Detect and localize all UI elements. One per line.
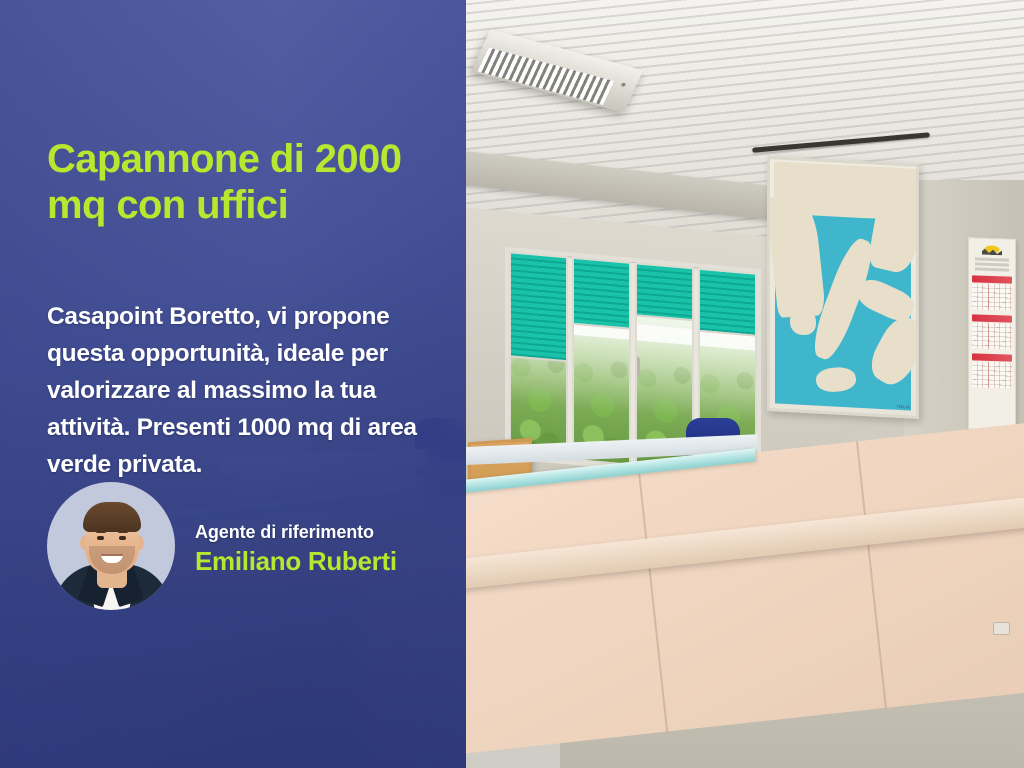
calendar-text-line bbox=[975, 267, 1009, 271]
sun-glow bbox=[574, 319, 629, 414]
window-pane bbox=[572, 257, 631, 466]
listing-banner: ITALIA bbox=[0, 0, 1024, 768]
calendar-text-line bbox=[975, 262, 1009, 266]
office-chair bbox=[686, 418, 740, 474]
calendar-month-header bbox=[972, 314, 1012, 322]
sgc-logo-icon bbox=[979, 245, 1005, 257]
wall-calendar bbox=[968, 237, 1016, 431]
window-pane bbox=[509, 251, 568, 460]
calendar-month-block bbox=[972, 275, 1012, 310]
calendar-month-header bbox=[972, 353, 1012, 361]
avatar-eyebrow bbox=[118, 530, 128, 533]
calendar-day-grid bbox=[972, 322, 1012, 349]
floor bbox=[560, 578, 1024, 768]
map-caption: ITALIA bbox=[897, 404, 910, 410]
calendar-month-block bbox=[972, 353, 1012, 388]
agent-label: Agente di riferimento bbox=[195, 522, 374, 543]
listing-description: Casapoint Boretto, vi propone questa opp… bbox=[47, 298, 439, 483]
italy-wall-map: ITALIA bbox=[767, 156, 919, 419]
window-blind bbox=[700, 270, 755, 337]
avatar-eyebrow bbox=[96, 530, 106, 533]
calendar-month-block bbox=[972, 314, 1012, 349]
calendar-day-grid bbox=[972, 283, 1012, 310]
avatar-hair bbox=[83, 502, 141, 532]
avatar-eye bbox=[97, 536, 104, 540]
sun-glow bbox=[700, 330, 755, 425]
window-blind bbox=[574, 259, 629, 330]
window-blind bbox=[511, 253, 566, 362]
avatar bbox=[47, 482, 175, 610]
avatar-eye bbox=[119, 536, 126, 540]
sun-glow bbox=[637, 324, 692, 419]
window-blind bbox=[637, 264, 692, 321]
calendar-text-line bbox=[975, 257, 1009, 261]
wooden-shelf-unit bbox=[468, 438, 532, 592]
agent-block: Agente di riferimento Emiliano Ruberti bbox=[47, 482, 447, 622]
overlay-content: Capannone di 2000 mq con uffici Casapoin… bbox=[0, 0, 466, 768]
agent-name: Emiliano Ruberti bbox=[195, 546, 397, 577]
page-title: Capannone di 2000 mq con uffici bbox=[47, 136, 427, 228]
map-landmass bbox=[790, 308, 816, 335]
window-handle-icon bbox=[635, 356, 640, 377]
calendar-day-grid bbox=[972, 361, 1012, 388]
calendar-month-header bbox=[972, 275, 1012, 283]
